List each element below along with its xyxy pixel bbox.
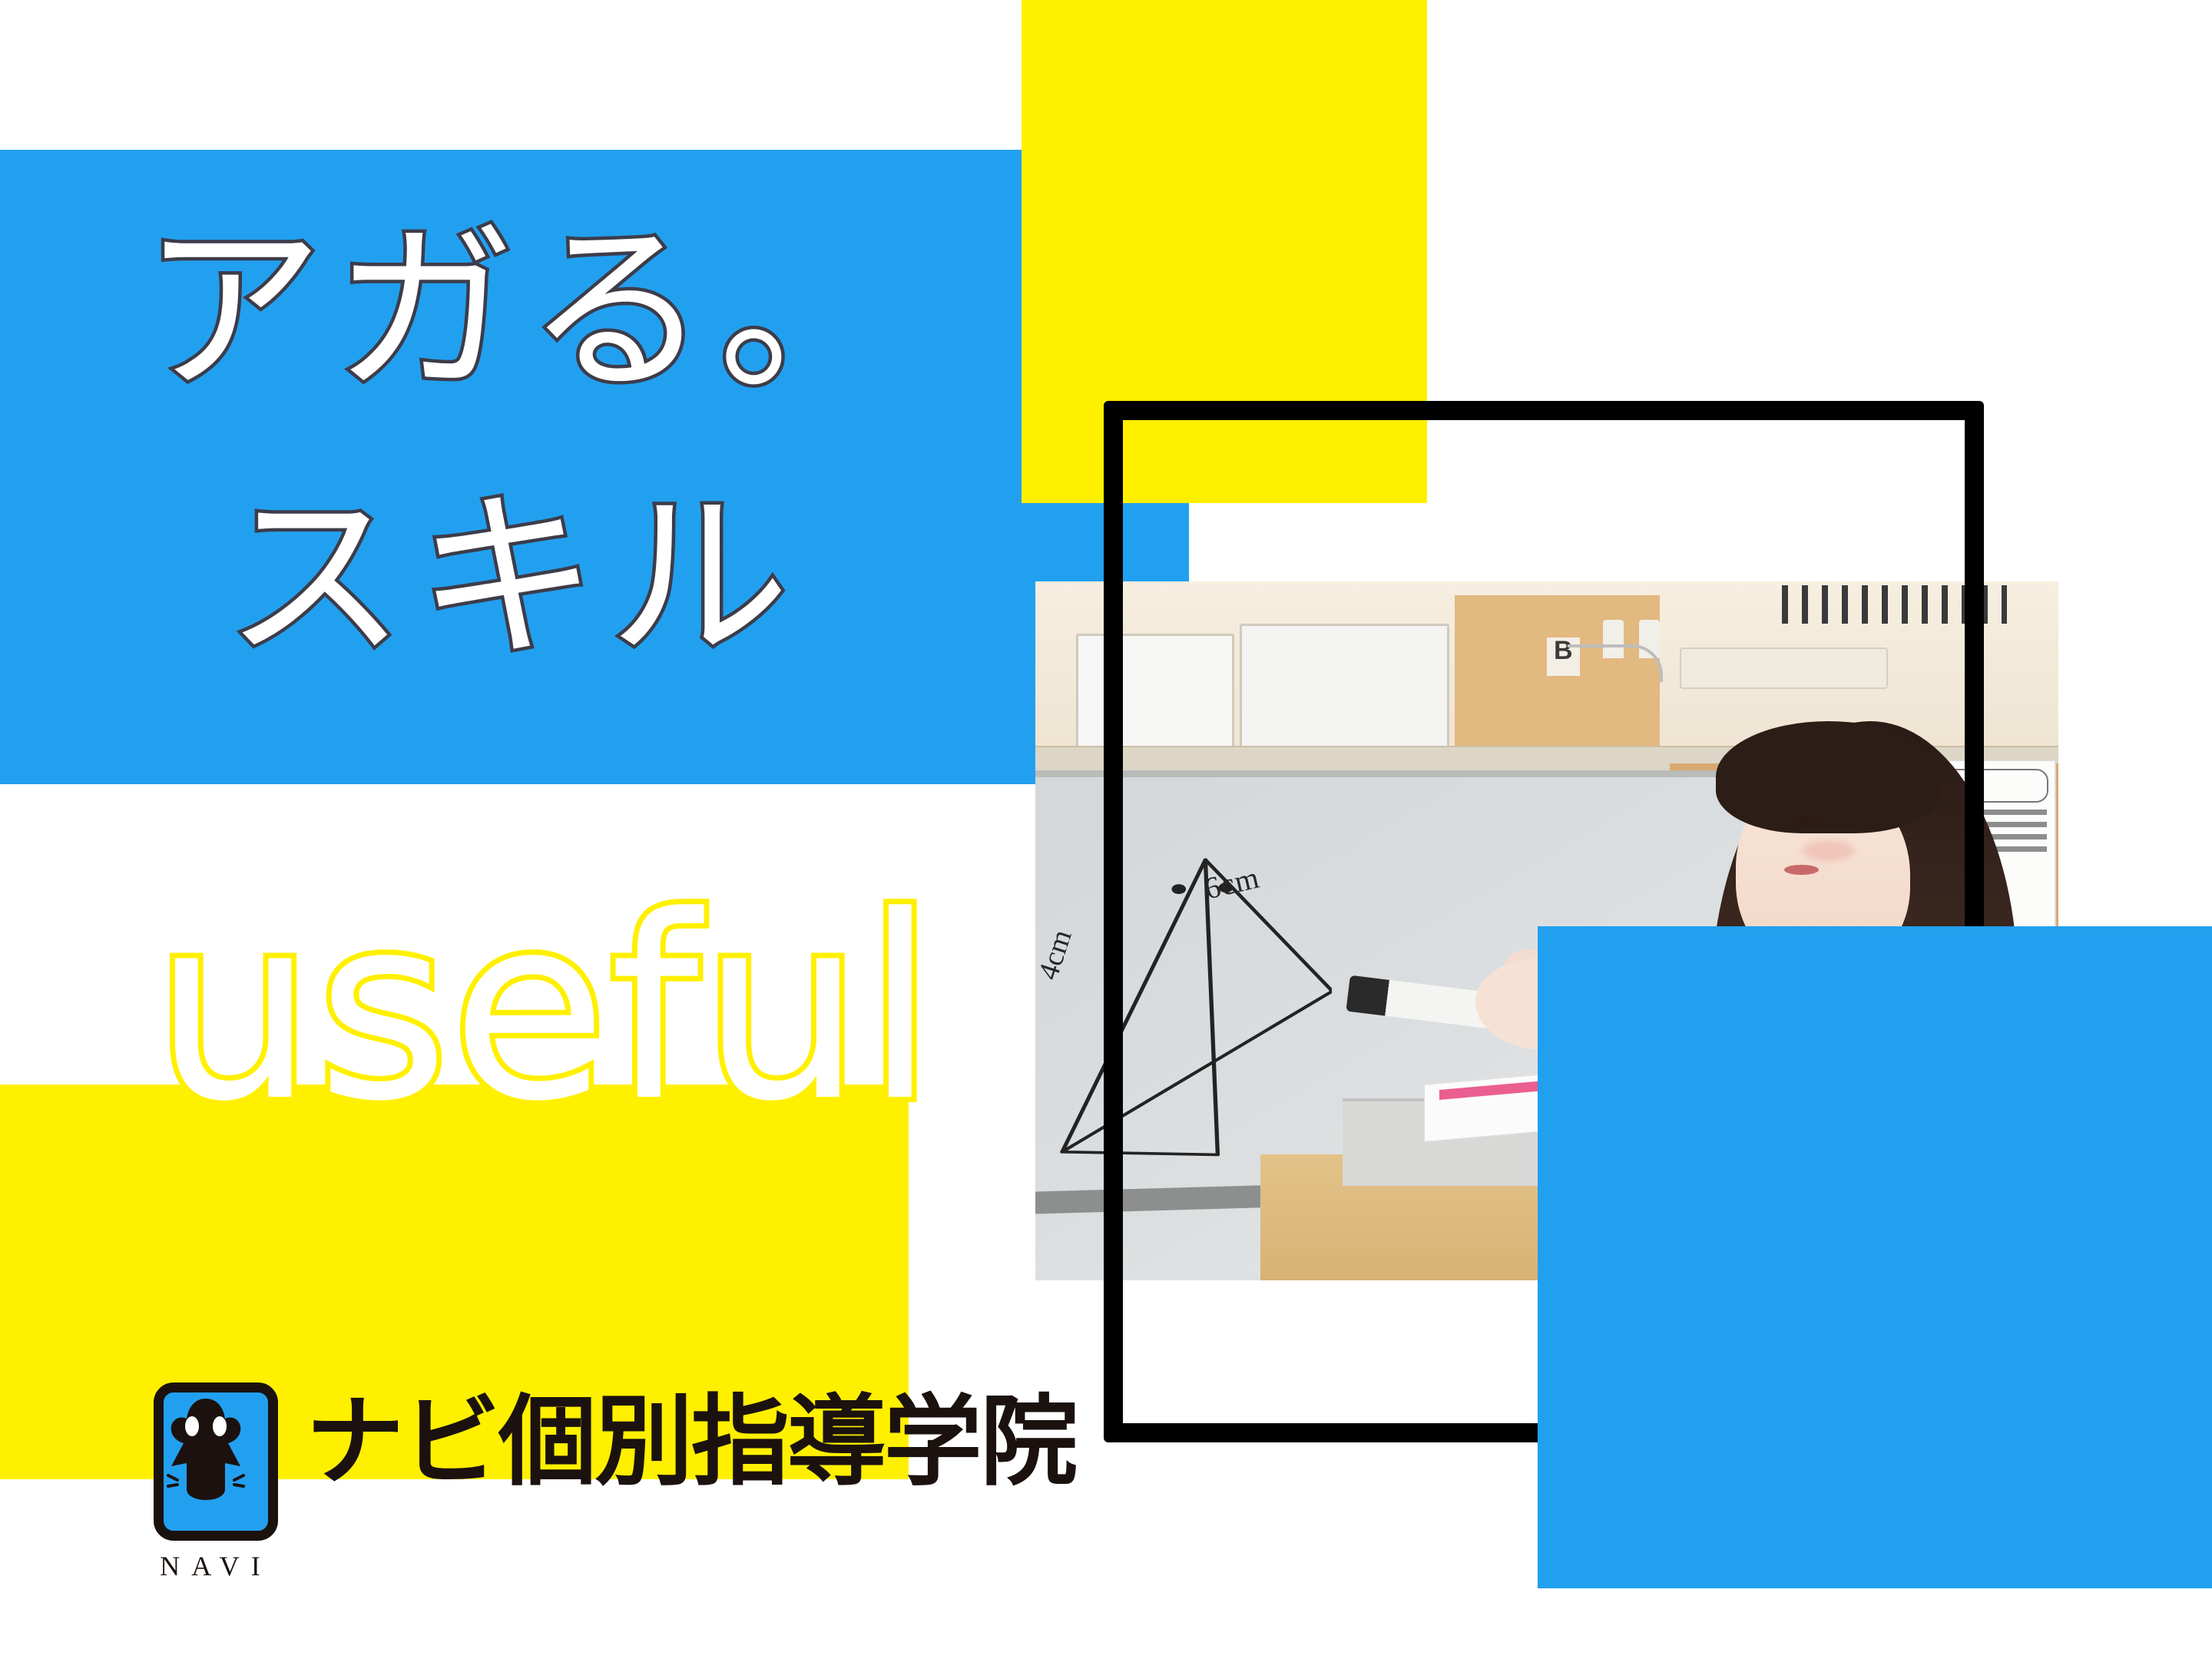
brand-logo: NAVI ナビ個別指導学院 bbox=[154, 1382, 1077, 1582]
navi-mascot-icon bbox=[154, 1382, 278, 1541]
mini-whiteboard-b bbox=[1240, 624, 1449, 761]
pyramid-diagram bbox=[1035, 847, 1332, 1169]
brand-wordmark: ナビ個別指導学院 bbox=[306, 1393, 1077, 1492]
tutor-lip bbox=[1784, 865, 1819, 876]
headline-line-1: アガる。 bbox=[142, 163, 911, 426]
headline-useful: useful bbox=[154, 862, 938, 1157]
tutor-cheek bbox=[1803, 840, 1854, 861]
poster-canvas: アガる。 スキル useful B bbox=[0, 0, 2212, 1659]
yellow-block-top bbox=[1022, 0, 1427, 503]
power-strip bbox=[1680, 647, 1887, 689]
tutor-bangs bbox=[1716, 721, 1941, 833]
mini-whiteboard-a bbox=[1076, 634, 1234, 764]
wall-hooks bbox=[1782, 585, 2007, 624]
blue-block-right-overlay bbox=[1538, 926, 2212, 1588]
cable bbox=[1568, 644, 1663, 683]
headline-line-2: スキル bbox=[224, 430, 800, 693]
navi-caption: NAVI bbox=[160, 1550, 272, 1582]
